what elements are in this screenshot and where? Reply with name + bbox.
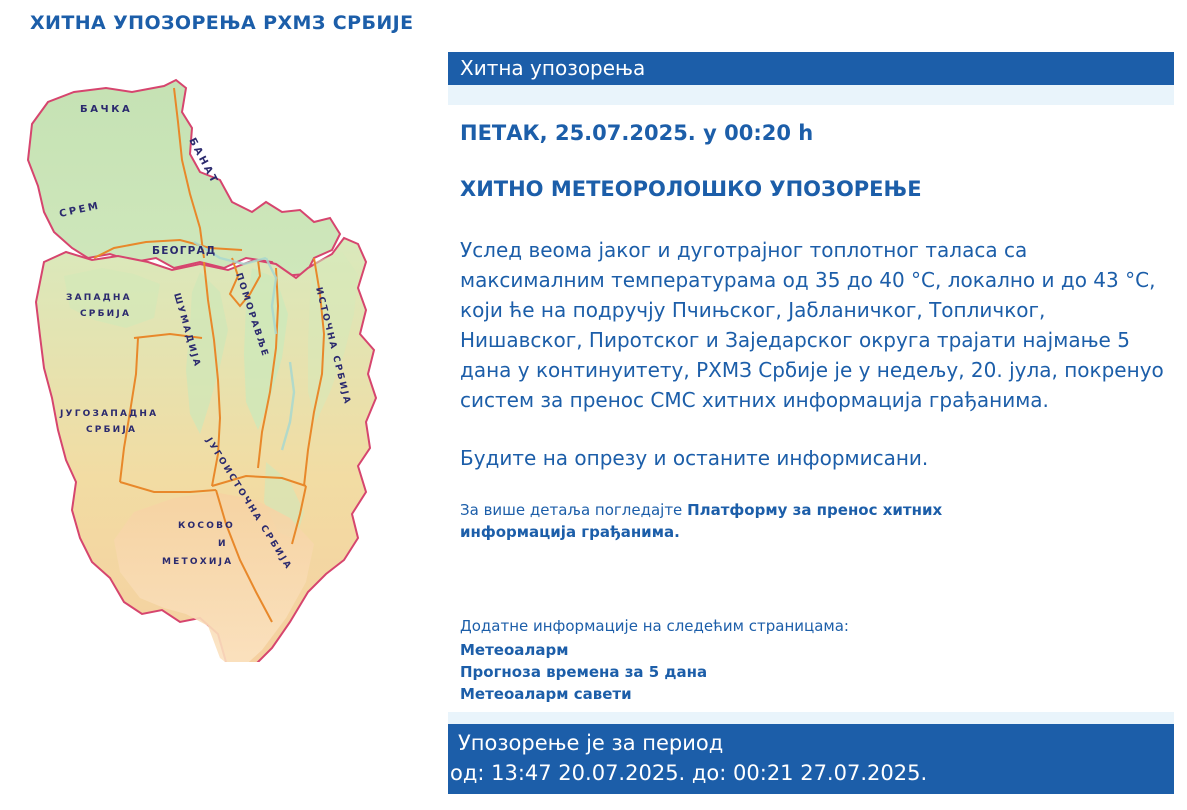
map-label-zapadna-srbija-2: СРБИЈА [80,309,131,319]
link-five-day-forecast[interactable]: Прогноза времена за 5 дана [460,661,1172,683]
map-label-jugozapadna-srbija-2: СРБИЈА [86,425,137,435]
emergency-warning-panel: Хитна упозорења ПЕТАК, 25.07.2025. у 00:… [448,52,1174,794]
map-label-jugozapadna-srbija-1: ЈУГОЗАПАДНА [59,409,158,419]
serbia-region-map[interactable]: БАЧКА БАНАТ СРЕМ БЕОГРАД ЗАПАДНА СРБИЈА … [14,62,424,662]
region-kosovo-shade [114,492,314,662]
map-label-kosovo-3: МЕТОХИЈА [162,557,233,567]
link-meteoalarm[interactable]: Метеоаларм [460,639,1172,661]
period-strip [448,712,1174,724]
warning-period-section: Упозорење је за период од: 13:47 20.07.2… [448,712,1174,794]
link-meteoalarm-advice[interactable]: Метеоаларм савети [460,683,1172,705]
map-label-zapadna-srbija-1: ЗАПАДНА [66,293,132,303]
panel-body: ПЕТАК, 25.07.2025. у 00:20 h ХИТНО МЕТЕО… [448,105,1174,705]
map-label-kosovo-1: КОСОВО [178,521,235,531]
header-strip [448,85,1174,105]
map-svg: БАЧКА БАНАТ СРЕМ БЕОГРАД ЗАПАДНА СРБИЈА … [14,62,424,662]
map-label-beograd: БЕОГРАД [152,245,216,257]
warning-advice: Будите на опрезу и останите информисани. [460,443,1172,473]
page-title: ХИТНА УПОЗОРЕЊА РХМЗ СРБИЈЕ [30,12,413,34]
additional-links-intro: Додатне информације на следећим страница… [460,615,1172,637]
map-label-kosovo-2: И [218,539,228,549]
warning-heading: ХИТНО МЕТЕОРОЛОШКО УПОЗОРЕЊЕ [460,177,1172,201]
additional-links-block: Додатне информације на следећим страница… [460,615,1172,705]
warning-datetime: ПЕТАК, 25.07.2025. у 00:20 h [460,121,1172,145]
period-bar: Упозорење је за период од: 13:47 20.07.2… [448,724,1174,794]
panel-header: Хитна упозорења [448,52,1174,85]
platform-detail-line: За више детаља погледајте Платформу за п… [460,499,1060,543]
map-label-backa: БАЧКА [80,104,132,115]
period-title: Упозорење је за период [458,731,723,755]
warning-paragraph: Услед веома јаког и дуготрајног топлотно… [460,235,1172,415]
period-range: од: 13:47 20.07.2025. до: 00:21 27.07.20… [450,758,1174,788]
platform-detail-prefix: За више детаља погледајте [460,501,687,519]
